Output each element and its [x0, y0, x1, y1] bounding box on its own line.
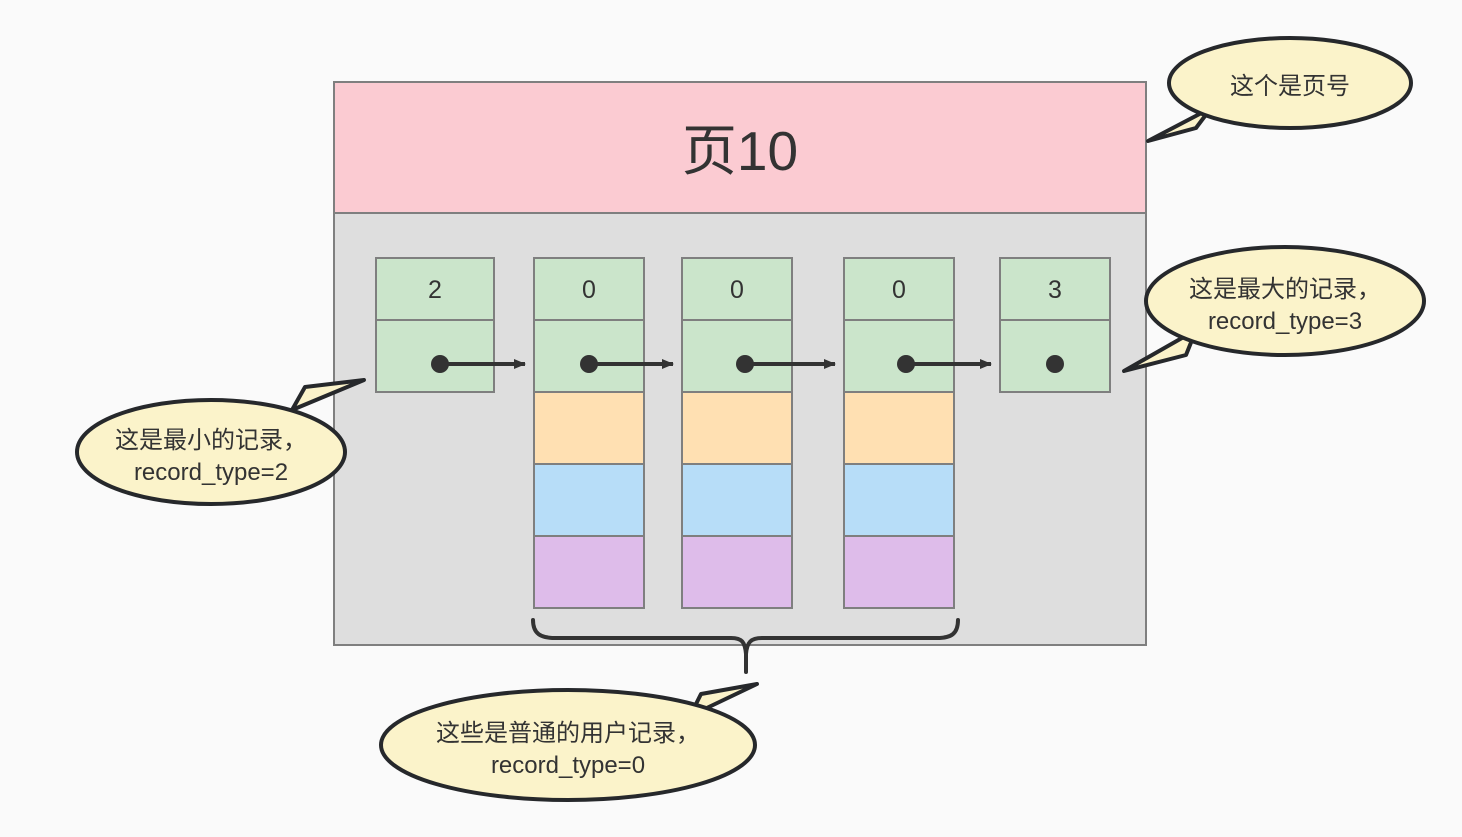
record-cell-column-2 [682, 464, 792, 536]
callout-min-record-callout[interactable] [77, 380, 364, 504]
record-cell-pointer [682, 320, 792, 392]
callout-bubble [77, 400, 345, 504]
record-supremum-record [1000, 258, 1110, 392]
record-cell-value [682, 258, 792, 320]
callout-max-record-callout[interactable] [1124, 247, 1424, 371]
record-cell-column-2 [844, 464, 954, 536]
diagram-svg [0, 0, 1462, 837]
callout-user-records-callout[interactable] [381, 684, 757, 800]
record-cell-value [376, 258, 494, 320]
callout-bubble [1146, 247, 1424, 355]
record-cell-column-1 [844, 392, 954, 464]
record-cell-value [534, 258, 644, 320]
diagram-canvas: 页10 2 0 0 0 3 这个是页号 这是最大的记录， record_type… [0, 0, 1462, 837]
callout-page-number-callout[interactable] [1148, 38, 1411, 141]
record-cell-value [844, 258, 954, 320]
pointer-dot [1046, 355, 1064, 373]
record-cell-pointer [844, 320, 954, 392]
record-cell-column-2 [534, 464, 644, 536]
record-cell-value [1000, 258, 1110, 320]
record-cell-column-1 [534, 392, 644, 464]
page-header [334, 82, 1146, 213]
record-cell-column-1 [682, 392, 792, 464]
record-cell-column-3 [534, 536, 644, 608]
callout-bubble [1169, 38, 1411, 128]
callout-bubble [381, 690, 755, 800]
record-cell-column-3 [844, 536, 954, 608]
record-cell-pointer [376, 320, 494, 392]
record-cell-column-3 [682, 536, 792, 608]
